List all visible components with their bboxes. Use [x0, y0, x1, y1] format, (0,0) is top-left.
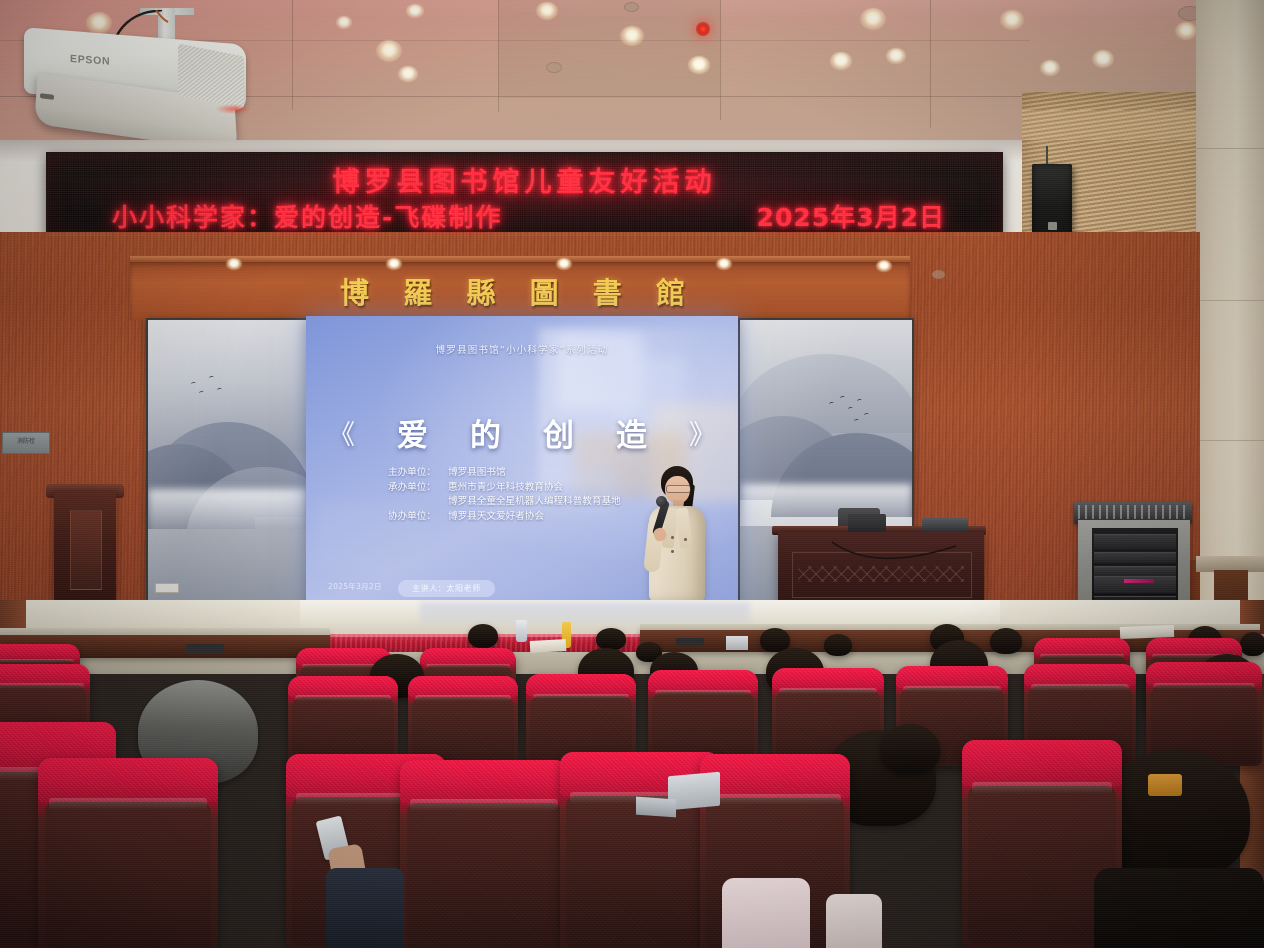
organizer-label: 协办单位： — [388, 510, 448, 525]
ceiling-light — [1175, 22, 1197, 40]
mixer-knobs — [1078, 505, 1188, 519]
ceiling-light — [886, 48, 906, 64]
ceiling-light — [336, 16, 352, 29]
ceiling-seam — [930, 0, 931, 128]
ceiling-light — [376, 40, 402, 62]
organizer-label: 承办单位： — [388, 481, 448, 496]
pillar-seam — [1196, 148, 1264, 149]
ceiling-light — [536, 2, 558, 20]
projector-lens-glow — [216, 104, 250, 114]
paper-sheet — [530, 639, 567, 653]
slide-organizer-list: 主办单位： 博罗县图书馆 承办单位： 惠州市青少年科技教育协会 博罗县全童全星机… — [388, 466, 621, 524]
audience-torso — [326, 868, 404, 948]
wall-sensor — [932, 270, 945, 279]
organizer-value: 博罗县图书馆 — [448, 466, 506, 481]
ceiling-vent — [624, 2, 639, 12]
sign-char: 圖 — [530, 270, 559, 312]
audience-head — [990, 628, 1022, 654]
audience-head — [468, 624, 498, 648]
organizer-label — [388, 495, 448, 510]
slide-speaker-badge: 主讲人：太阳老师 — [398, 580, 495, 597]
sign-char: 博 — [340, 270, 369, 312]
coat-button — [684, 538, 687, 541]
organizer-value: 惠州市青少年科技教育协会 — [448, 481, 563, 496]
ceiling-light — [688, 56, 710, 74]
ink-wash-mountain-mural-left — [146, 318, 310, 604]
rack-unit — [1094, 566, 1176, 576]
coat-button — [671, 536, 674, 539]
slide-title-char: 爱 — [397, 410, 428, 455]
organizer-row: 主办单位： 博罗县图书馆 — [388, 466, 621, 481]
led-banner-display: 博罗县图书馆儿童友好活动 小小科学家：爱的创造-飞碟制作 2025年3月2日 — [46, 152, 1003, 238]
sign-spotlight — [716, 258, 732, 270]
slide-title-char: 创 — [543, 410, 574, 455]
desk-chevron-pattern — [798, 566, 964, 582]
organizer-value: 博罗县天文爱好者协会 — [448, 510, 544, 525]
led-banner-line-2-left: 小小科学家：爱的创造-飞碟制作 — [112, 198, 502, 234]
ceiling-light — [1040, 60, 1060, 76]
audience-seating-area — [0, 618, 1264, 948]
audience-desk-top — [0, 628, 330, 635]
paper-sheet — [1120, 625, 1174, 639]
sign-spotlight — [386, 258, 402, 270]
audience-torso — [722, 878, 810, 948]
ceiling-light — [406, 4, 424, 18]
organizer-value: 博罗县全童全星机器人编程科普教育基地 — [448, 495, 621, 510]
speaker-cable — [1046, 146, 1048, 166]
slide-title-char: 造 — [616, 410, 647, 455]
auditorium-seat[interactable] — [400, 760, 568, 948]
ceiling-seam — [292, 0, 293, 110]
sign-char: 羅 — [403, 270, 432, 312]
rack-status-led — [1124, 579, 1154, 583]
ceiling-light — [620, 26, 644, 46]
organizer-label: 主办单位： — [388, 466, 448, 481]
cup — [726, 636, 748, 650]
microphone-head-icon — [656, 496, 667, 507]
organizer-row: 博罗县全童全星机器人编程科普教育基地 — [388, 495, 621, 510]
audience-head — [596, 628, 626, 650]
pillar-seam — [1196, 300, 1264, 301]
slide-date: 2025年3月2日 — [328, 581, 382, 592]
audience-torso — [826, 894, 882, 948]
slide-title-char: 的 — [470, 410, 501, 455]
rack-unit — [1094, 552, 1176, 563]
ceiling-light — [860, 8, 886, 30]
lectern-panel — [70, 510, 102, 590]
wood-slat-wall-highlight — [1022, 110, 1210, 140]
water-bottle — [516, 620, 527, 642]
object — [1148, 774, 1182, 796]
ceiling-light — [830, 52, 852, 70]
device — [676, 638, 704, 646]
mural-stamp — [155, 583, 179, 593]
ceiling-vent — [546, 62, 562, 73]
slide-header: 博罗县图书馆“小小科学家”系列活动 — [306, 342, 738, 356]
ceiling-light — [398, 66, 418, 82]
auditorium-seat[interactable] — [38, 758, 218, 948]
corner-pillar — [1196, 0, 1264, 620]
ceiling-panel-tint — [498, 0, 720, 98]
stage-equipment — [922, 518, 968, 532]
auditorium-photo: EPSON 博罗县图书馆儿童友好活动 小小科学家：爱的创造-飞碟制作 2025年… — [0, 0, 1264, 948]
wall-plaque: 消防栓 — [2, 432, 50, 454]
slide-title-bracket-close: 》 — [689, 413, 716, 452]
laptop-icon — [848, 514, 886, 534]
sign-spotlight — [226, 258, 242, 270]
ceiling-light — [1092, 50, 1114, 68]
audience-torso — [1094, 868, 1264, 948]
emergency-light-icon — [696, 22, 710, 36]
audience-head — [824, 634, 852, 656]
sign-char: 館 — [656, 270, 685, 312]
audience-head — [1240, 632, 1264, 656]
sign-char: 縣 — [466, 270, 495, 312]
audience-head — [1100, 750, 1250, 880]
sign-char: 書 — [593, 270, 622, 312]
desk-cable-icon — [830, 540, 960, 564]
library-sign-text: 博 羅 縣 圖 書 館 — [340, 270, 685, 312]
organizer-row: 承办单位： 惠州市青少年科技教育协会 — [388, 481, 621, 496]
glasses-icon — [666, 485, 691, 493]
speaker-badge — [1048, 222, 1057, 230]
ceiling-light — [1000, 10, 1024, 30]
audience-head — [880, 724, 940, 774]
laptop-base — [636, 797, 676, 818]
organizer-row: 协办单位： 博罗县天文爱好者协会 — [388, 510, 621, 525]
coat-button — [671, 550, 674, 553]
led-banner-line-1: 博罗县图书馆儿童友好活动 — [48, 160, 1001, 199]
slide-title: 《 爱 的 创 造 》 — [328, 410, 716, 455]
slide-title-bracket-open: 《 — [328, 413, 355, 452]
pillar-seam — [1196, 440, 1264, 441]
ceiling-projector: EPSON — [18, 8, 288, 148]
led-banner-date: 2025年3月2日 — [757, 198, 945, 234]
sign-spotlight — [876, 260, 892, 272]
device — [186, 644, 224, 654]
ceiling-seam — [720, 0, 721, 120]
rack-unit — [1094, 534, 1176, 549]
sign-spotlight — [556, 258, 572, 270]
